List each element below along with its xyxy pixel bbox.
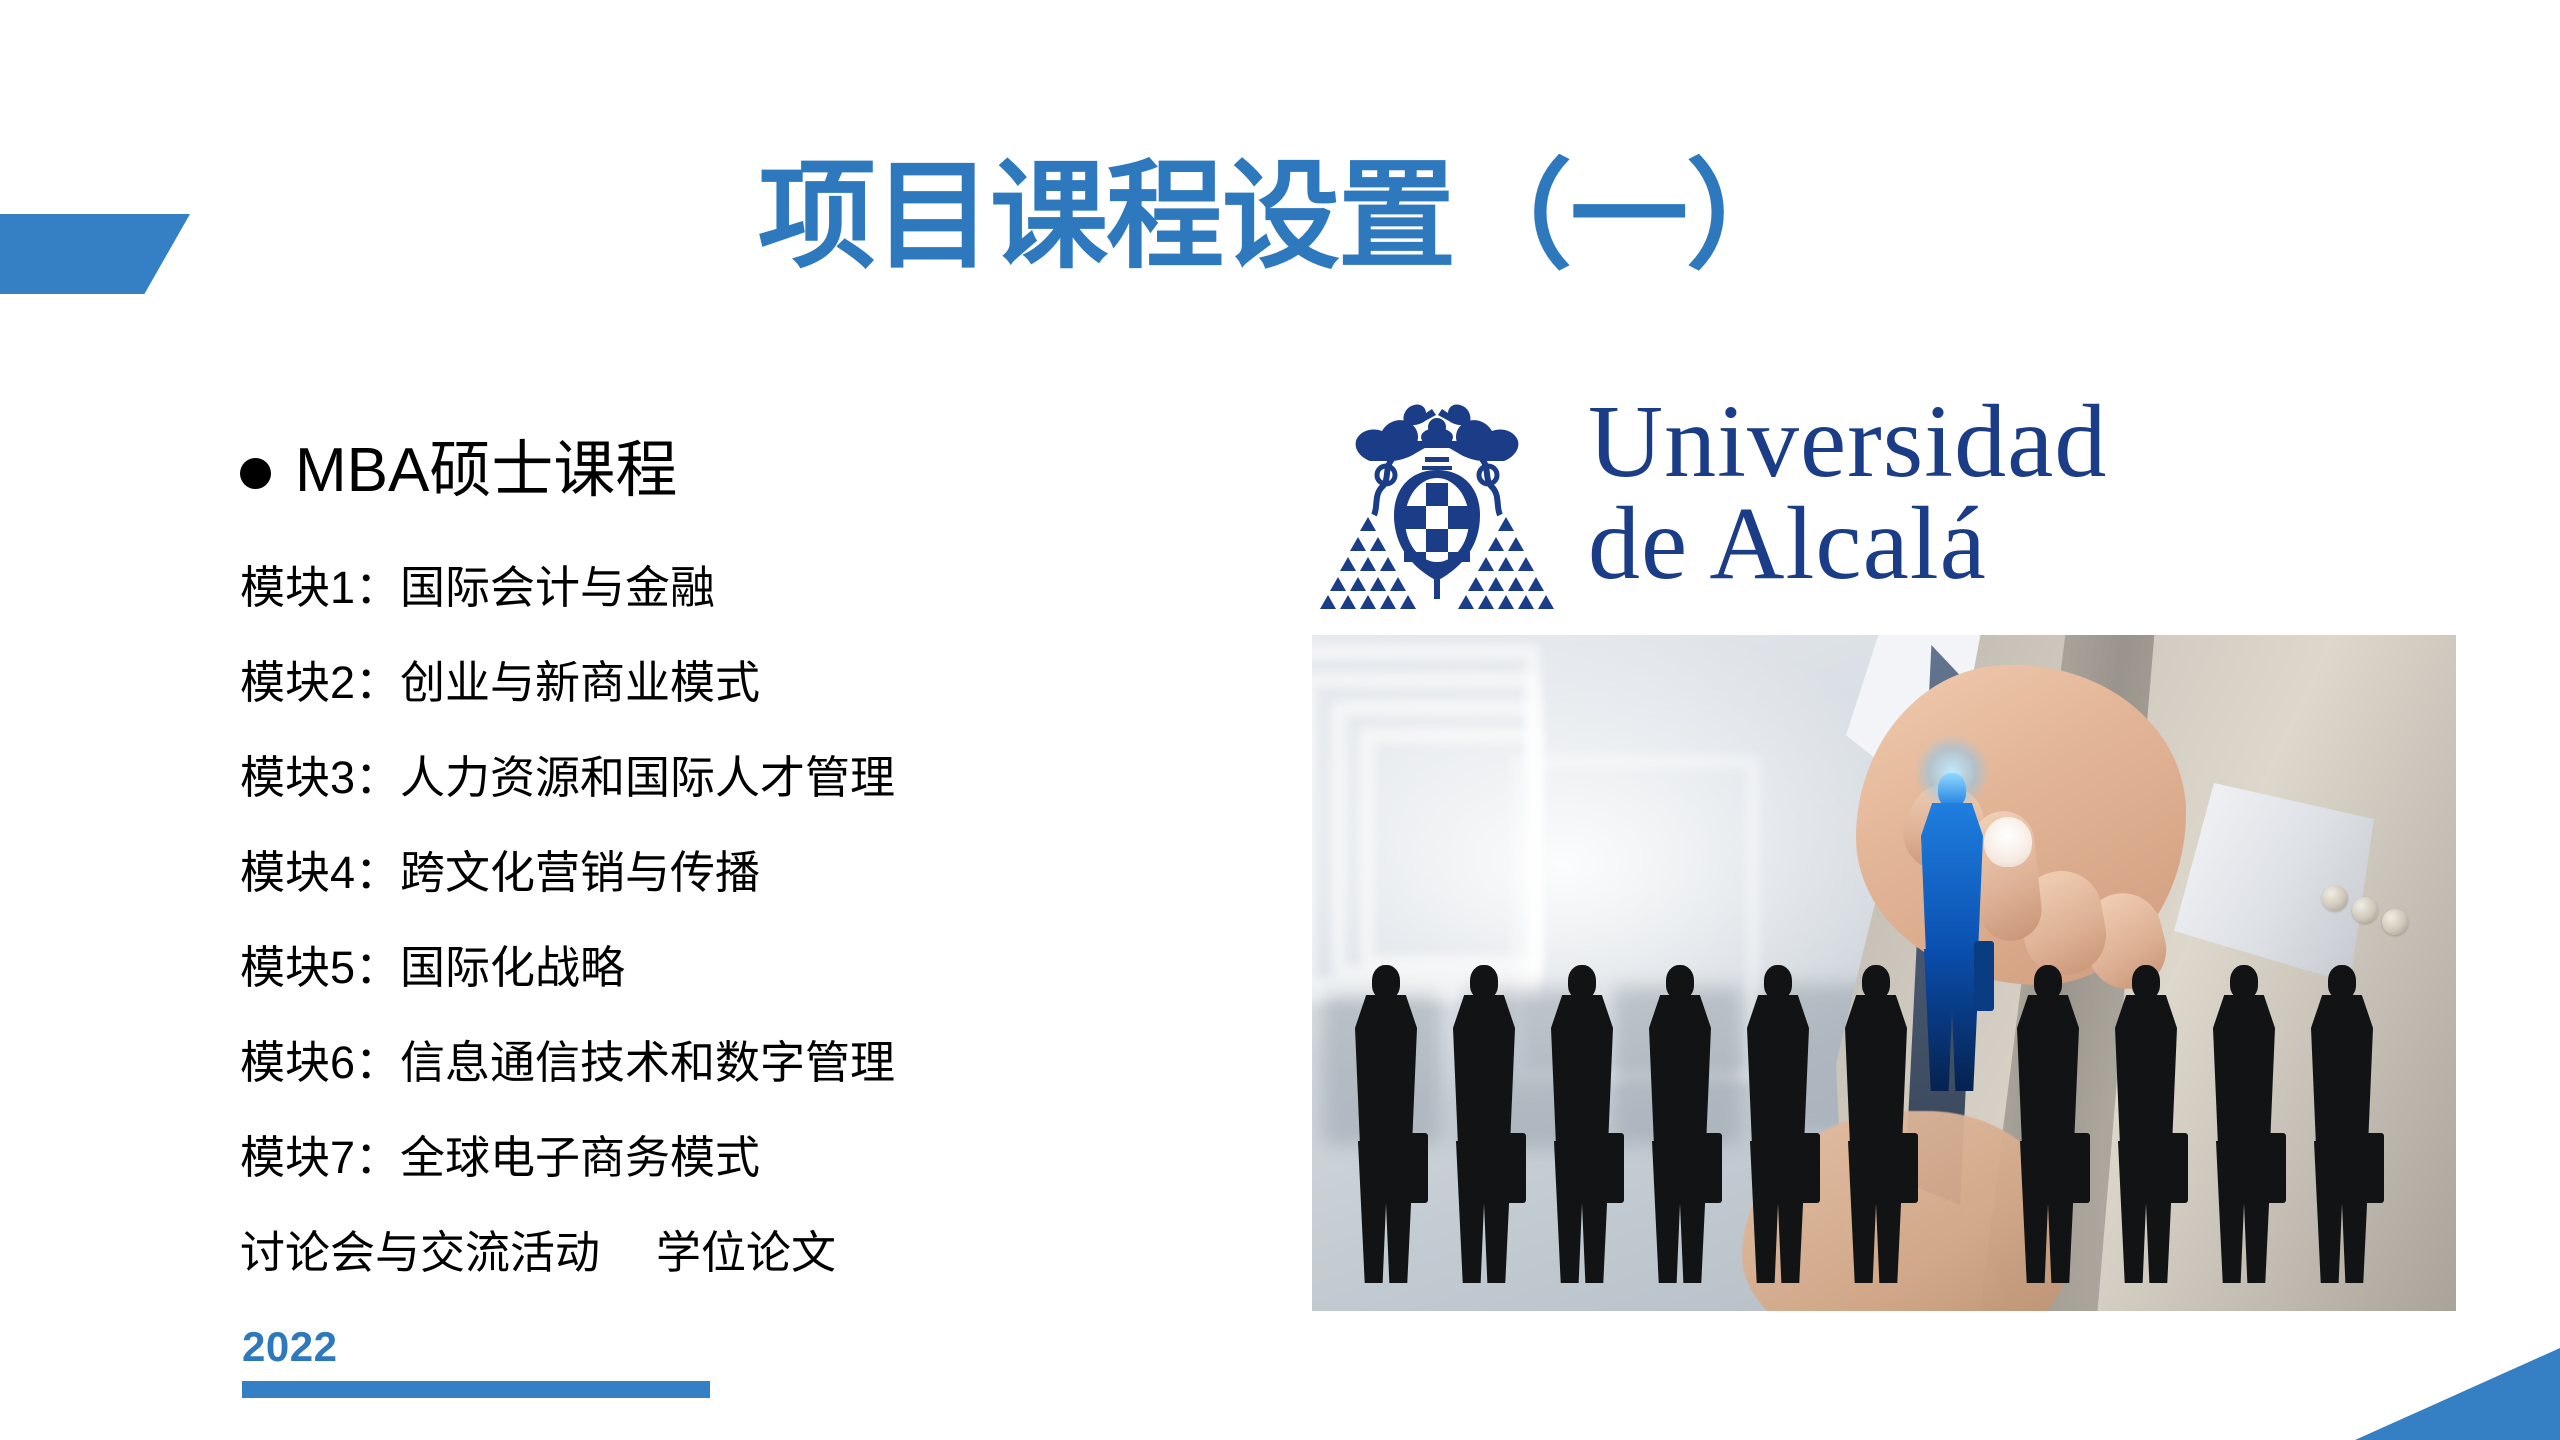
module-name: 人力资源和国际人才管理 xyxy=(400,755,895,800)
figure-body xyxy=(1355,995,1417,1145)
figure-head xyxy=(1568,965,1596,999)
silhouette-figure xyxy=(1644,965,1716,1283)
logo-line-1: Universidad xyxy=(1588,391,2107,493)
silhouette-figure xyxy=(1840,965,1912,1283)
module-label: 模块3： xyxy=(240,755,400,800)
figure-body xyxy=(1649,995,1711,1145)
figure-head xyxy=(2230,965,2258,999)
module-name: 信息通信技术和数字管理 xyxy=(400,1040,895,1085)
university-crest-icon xyxy=(1312,365,1562,620)
figure-briefcase xyxy=(1506,1133,1526,1203)
silhouette-figure xyxy=(1742,965,1814,1283)
section-heading: MBA硕士课程 xyxy=(240,440,1260,502)
brand-media-column: Universidad de Alcalá xyxy=(1312,350,2457,1311)
figure-head xyxy=(1372,965,1400,999)
list-item: 模块3： 人力资源和国际人才管理 xyxy=(240,730,1260,825)
list-item: 模块1： 国际会计与金融 xyxy=(240,540,1260,635)
figure-body xyxy=(2017,995,2079,1145)
bottom-right-accent-shape xyxy=(2355,1348,2560,1440)
year-label: 2022 xyxy=(242,1326,712,1368)
figure-briefcase xyxy=(2168,1133,2188,1203)
sleeve-button xyxy=(2382,909,2408,935)
figure-briefcase xyxy=(2266,1133,2286,1203)
footnote-left: 讨论会与交流活动 xyxy=(240,1230,600,1275)
module-label: 模块1： xyxy=(240,565,400,610)
list-item: 模块4： 跨文化营销与传播 xyxy=(240,825,1260,920)
silhouette-figure xyxy=(1546,965,1618,1283)
figure-legs xyxy=(1456,1141,1512,1283)
figure-legs xyxy=(1924,949,1980,1091)
figure-head xyxy=(1470,965,1498,999)
hero-photo xyxy=(1312,635,2456,1311)
figure-body xyxy=(2311,995,2373,1145)
list-item: 模块6： 信息通信技术和数字管理 xyxy=(240,1015,1260,1110)
module-name: 全球电子商务模式 xyxy=(400,1135,760,1180)
figure-legs xyxy=(1358,1141,1414,1283)
figure-head xyxy=(2328,965,2356,999)
module-label: 模块7： xyxy=(240,1135,400,1180)
section-heading-label: MBA硕士课程 xyxy=(295,440,677,502)
figure-legs xyxy=(2118,1141,2174,1283)
logo-line-2: de Alcalá xyxy=(1588,493,2107,595)
figure-body xyxy=(1845,995,1907,1145)
module-list: 模块1： 国际会计与金融 模块2： 创业与新商业模式 模块3： 人力资源和国际人… xyxy=(240,540,1260,1205)
module-name: 国际会计与金融 xyxy=(400,565,715,610)
footnote-right: 学位论文 xyxy=(656,1230,836,1275)
footnote-row: 讨论会与交流活动 学位论文 xyxy=(240,1205,1260,1300)
module-name: 国际化战略 xyxy=(400,945,625,990)
module-label: 模块4： xyxy=(240,850,400,895)
module-label: 模块2： xyxy=(240,660,400,705)
silhouette-figure xyxy=(1350,965,1422,1283)
figure-legs xyxy=(2216,1141,2272,1283)
figure-body xyxy=(1453,995,1515,1145)
list-item: 模块7： 全球电子商务模式 xyxy=(240,1110,1260,1205)
module-label: 模块5： xyxy=(240,945,400,990)
sleeve-button xyxy=(2322,885,2348,911)
list-item: 模块5： 国际化战略 xyxy=(240,920,1260,1015)
module-name: 创业与新商业模式 xyxy=(400,660,760,705)
figure-body xyxy=(1747,995,1809,1145)
figure-briefcase xyxy=(1702,1133,1722,1203)
highlighted-figure xyxy=(1916,773,1988,1153)
silhouette-figure xyxy=(2208,965,2280,1283)
figure-briefcase xyxy=(2070,1133,2090,1203)
figure-briefcase xyxy=(1604,1133,1624,1203)
figure-briefcase xyxy=(1974,941,1994,1011)
module-label: 模块6： xyxy=(240,1040,400,1085)
figure-body xyxy=(2213,995,2275,1145)
figure-briefcase xyxy=(1408,1133,1428,1203)
module-name: 跨文化营销与传播 xyxy=(400,850,760,895)
silhouette-figure xyxy=(1448,965,1520,1283)
figure-body xyxy=(1551,995,1613,1145)
figure-head xyxy=(1862,965,1890,999)
silhouette-figure xyxy=(2110,965,2182,1283)
figure-head xyxy=(1764,965,1792,999)
figure-head xyxy=(2132,965,2160,999)
sleeve-button xyxy=(2352,897,2378,923)
university-wordmark: Universidad de Alcalá xyxy=(1588,391,2107,595)
figure-head xyxy=(1938,773,1966,807)
figure-briefcase xyxy=(1898,1133,1918,1203)
figure-briefcase xyxy=(1800,1133,1820,1203)
list-item: 模块2： 创业与新商业模式 xyxy=(240,635,1260,730)
figure-legs xyxy=(1652,1141,1708,1283)
university-logo: Universidad de Alcalá xyxy=(1312,350,2457,635)
figure-legs xyxy=(1750,1141,1806,1283)
figure-briefcase xyxy=(2364,1133,2384,1203)
silhouette-figure xyxy=(2306,965,2378,1283)
silhouette-figure xyxy=(2012,965,2084,1283)
year-underline-bar xyxy=(242,1381,710,1398)
bullet-dot-icon xyxy=(240,458,271,489)
figure-head xyxy=(2034,965,2062,999)
figure-legs xyxy=(1554,1141,1610,1283)
figure-head xyxy=(1666,965,1694,999)
figure-legs xyxy=(1848,1141,1904,1283)
course-content-column: MBA硕士课程 模块1： 国际会计与金融 模块2： 创业与新商业模式 模块3： … xyxy=(240,440,1260,1300)
figure-body xyxy=(2115,995,2177,1145)
figure-legs xyxy=(2020,1141,2076,1283)
year-footer: 2022 xyxy=(242,1326,712,1398)
page-title: 项目课程设置（一） xyxy=(0,158,2560,276)
figure-body xyxy=(1921,803,1983,953)
figure-legs xyxy=(2314,1141,2370,1283)
fingernail xyxy=(1984,817,2032,867)
